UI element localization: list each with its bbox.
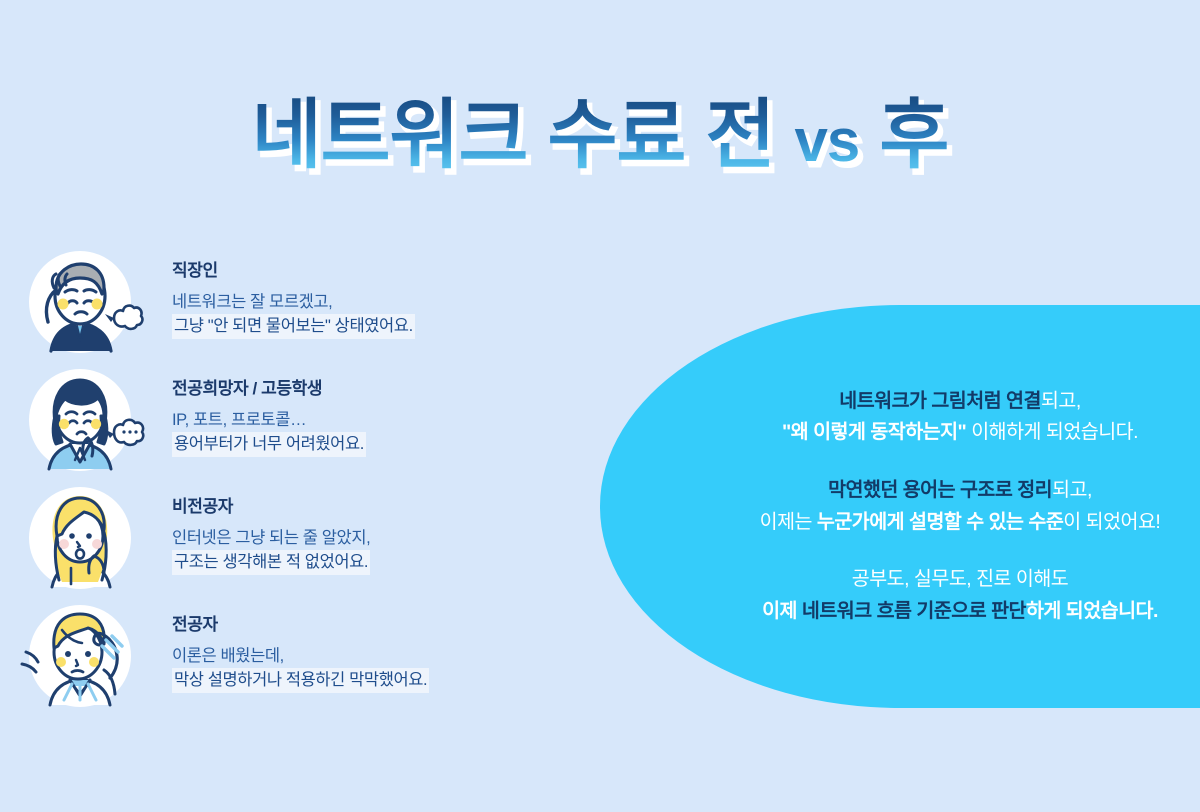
after-line: 막연했던 용어는 구조로 정리되고, <box>680 475 1200 507</box>
after-results-content: 네트워크가 그림처럼 연결되고, "왜 이렇게 동작하는지" 이해하게 되었습니… <box>600 305 1200 708</box>
list-item: 직장인 네트워크는 잘 모르겠고, 그냥 "안 되면 물어보는" 상태였어요. <box>18 248 578 366</box>
head-scratching-man-icon <box>18 602 148 710</box>
persona-title: 전공희망자 / 고등학생 <box>172 374 366 399</box>
after-segment: 네트워크 흐름 기준으로 판단 <box>802 600 1026 622</box>
after-segment: 누군가에게 설명할 수 있는 수준 <box>817 511 1063 533</box>
persona-line-1: IP, 포트, 프로토콜… <box>172 408 366 432</box>
after-segment: 공부도, 실무도, 진로 이해도 <box>852 568 1068 590</box>
list-item: 비전공자 인터넷은 그냥 되는 줄 알았지, 구조는 생각해본 적 없었어요. <box>18 484 578 602</box>
after-line: 공부도, 실무도, 진로 이해도 <box>680 564 1200 596</box>
persona-text-block: 전공자 이론은 배웠는데, 막상 설명하거나 적용하긴 막막했어요. <box>172 610 429 693</box>
persona-title: 비전공자 <box>172 492 370 517</box>
persona-text-block: 직장인 네트워크는 잘 모르겠고, 그냥 "안 되면 물어보는" 상태였어요. <box>172 256 415 339</box>
persona-title: 직장인 <box>172 256 415 281</box>
worried-office-worker-icon <box>18 248 148 356</box>
after-line: 네트워크가 그림처럼 연결되고, <box>680 386 1200 418</box>
thinking-student-girl-icon <box>18 366 148 474</box>
after-line: "왜 이렇게 동작하는지" 이해하게 되었습니다. <box>680 417 1200 449</box>
after-segment: 이해하게 되었습니다. <box>966 421 1138 443</box>
persona-line-2: 용어부터가 너무 어려웠어요. <box>172 432 366 456</box>
after-results-panel: 네트워크가 그림처럼 연결되고, "왜 이렇게 동작하는지" 이해하게 되었습니… <box>600 305 1200 708</box>
after-segment: 되고, <box>1052 479 1092 501</box>
after-segment: 네트워크가 그림처럼 연결 <box>839 390 1041 412</box>
page-title: 네트워크 수료 전 vs 후 네트워크 수료 전 vs 후 <box>0 92 1200 202</box>
list-item: 전공희망자 / 고등학생 IP, 포트, 프로토콜… 용어부터가 너무 어려웠어… <box>18 366 578 484</box>
persona-line-2: 막상 설명하거나 적용하긴 막막했어요. <box>172 668 429 692</box>
title-face-layer: 네트워크 수료 전 vs 후 <box>252 93 949 178</box>
after-segment: 되고, <box>1041 390 1081 412</box>
after-block-2: 막연했던 용어는 구조로 정리되고, 이제는 누군가에게 설명할 수 있는 수준… <box>680 475 1200 538</box>
after-segment: 이 되었어요! <box>1063 511 1160 533</box>
after-segment: 하게 되었습니다. <box>1026 600 1158 622</box>
title-text: 네트워크 수료 전 vs 후 네트워크 수료 전 vs 후 <box>252 92 949 179</box>
persona-line-2: 구조는 생각해본 적 없었어요. <box>172 550 370 574</box>
after-block-1: 네트워크가 그림처럼 연결되고, "왜 이렇게 동작하는지" 이해하게 되었습니… <box>680 386 1200 449</box>
persona-line-1: 네트워크는 잘 모르겠고, <box>172 290 415 314</box>
after-segment: 막연했던 용어는 구조로 정리 <box>828 479 1052 501</box>
persona-line-2: 그냥 "안 되면 물어보는" 상태였어요. <box>172 314 415 338</box>
after-block-3: 공부도, 실무도, 진로 이해도 이제 네트워크 흐름 기준으로 판단하게 되었… <box>680 564 1200 627</box>
after-line: 이제는 누군가에게 설명할 수 있는 수준이 되었어요! <box>680 507 1200 539</box>
puzzled-woman-icon <box>18 484 148 592</box>
persona-line-1: 이론은 배웠는데, <box>172 644 429 668</box>
after-segment: 이제 <box>762 600 802 622</box>
list-item: 전공자 이론은 배웠는데, 막상 설명하거나 적용하긴 막막했어요. <box>18 602 578 720</box>
persona-text-block: 전공희망자 / 고등학생 IP, 포트, 프로토콜… 용어부터가 너무 어려웠어… <box>172 374 366 457</box>
after-segment: "왜 이렇게 동작하는지" <box>782 421 966 443</box>
after-line: 이제 네트워크 흐름 기준으로 판단하게 되었습니다. <box>680 596 1200 628</box>
before-personas-list: 직장인 네트워크는 잘 모르겠고, 그냥 "안 되면 물어보는" 상태였어요. <box>18 248 578 720</box>
persona-title: 전공자 <box>172 610 429 635</box>
persona-text-block: 비전공자 인터넷은 그냥 되는 줄 알았지, 구조는 생각해본 적 없었어요. <box>172 492 370 575</box>
after-segment: 이제는 <box>760 511 817 533</box>
persona-line-1: 인터넷은 그냥 되는 줄 알았지, <box>172 526 370 550</box>
